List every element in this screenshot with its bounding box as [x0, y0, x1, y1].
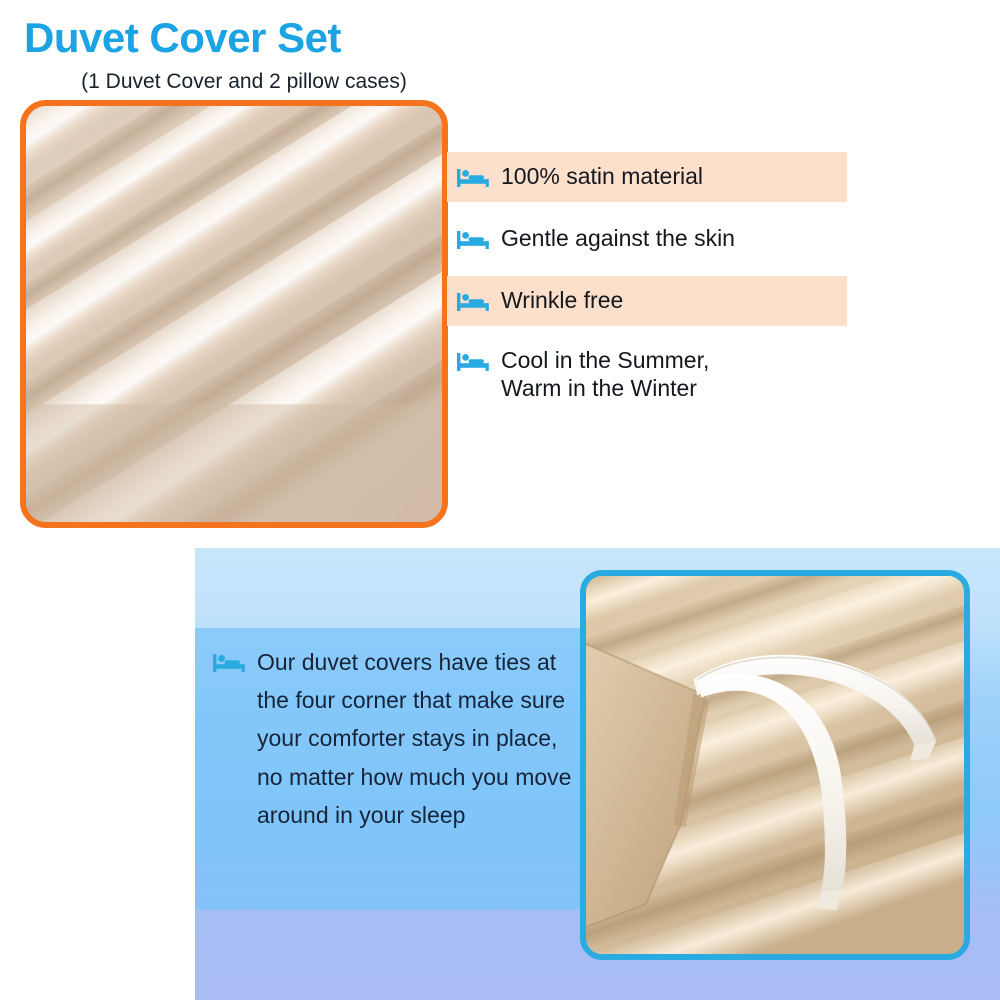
bed-icon [457, 350, 491, 374]
ties-description-text: Our duvet covers have ties at the four c… [257, 643, 583, 834]
feature-item: Wrinkle free [447, 276, 847, 326]
feature-spacer [447, 264, 847, 276]
feature-list: 100% satin material Gentle against the s… [447, 152, 847, 411]
satin-fabric-photo [20, 100, 448, 528]
feature-spacer [447, 326, 847, 336]
ties-description: Our duvet covers have ties at the four c… [213, 643, 583, 834]
page-title: Duvet Cover Set [24, 16, 494, 60]
bed-icon [213, 651, 247, 675]
feature-label: 100% satin material [501, 161, 703, 190]
ties-info-panel: Our duvet covers have ties at the four c… [195, 548, 1000, 1000]
infographic-root: Duvet Cover Set (1 Duvet Cover and 2 pil… [0, 0, 1000, 1000]
feature-item: Cool in the Summer, Warm in the Winter [447, 336, 847, 411]
satin-fabric-illustration [20, 100, 448, 528]
bed-icon [457, 228, 491, 252]
feature-label: Wrinkle free [501, 285, 623, 314]
feature-label: Cool in the Summer, Warm in the Winter [501, 345, 709, 402]
duvet-ties-illustration [586, 576, 964, 954]
feature-label: Gentle against the skin [501, 223, 735, 252]
duvet-ties-photo [580, 570, 970, 960]
bed-icon [457, 290, 491, 314]
bed-icon [457, 166, 491, 190]
feature-item: Gentle against the skin [447, 214, 847, 264]
page-subtitle: (1 Duvet Cover and 2 pillow cases) [34, 70, 454, 94]
feature-spacer [447, 202, 847, 214]
feature-item: 100% satin material [447, 152, 847, 202]
